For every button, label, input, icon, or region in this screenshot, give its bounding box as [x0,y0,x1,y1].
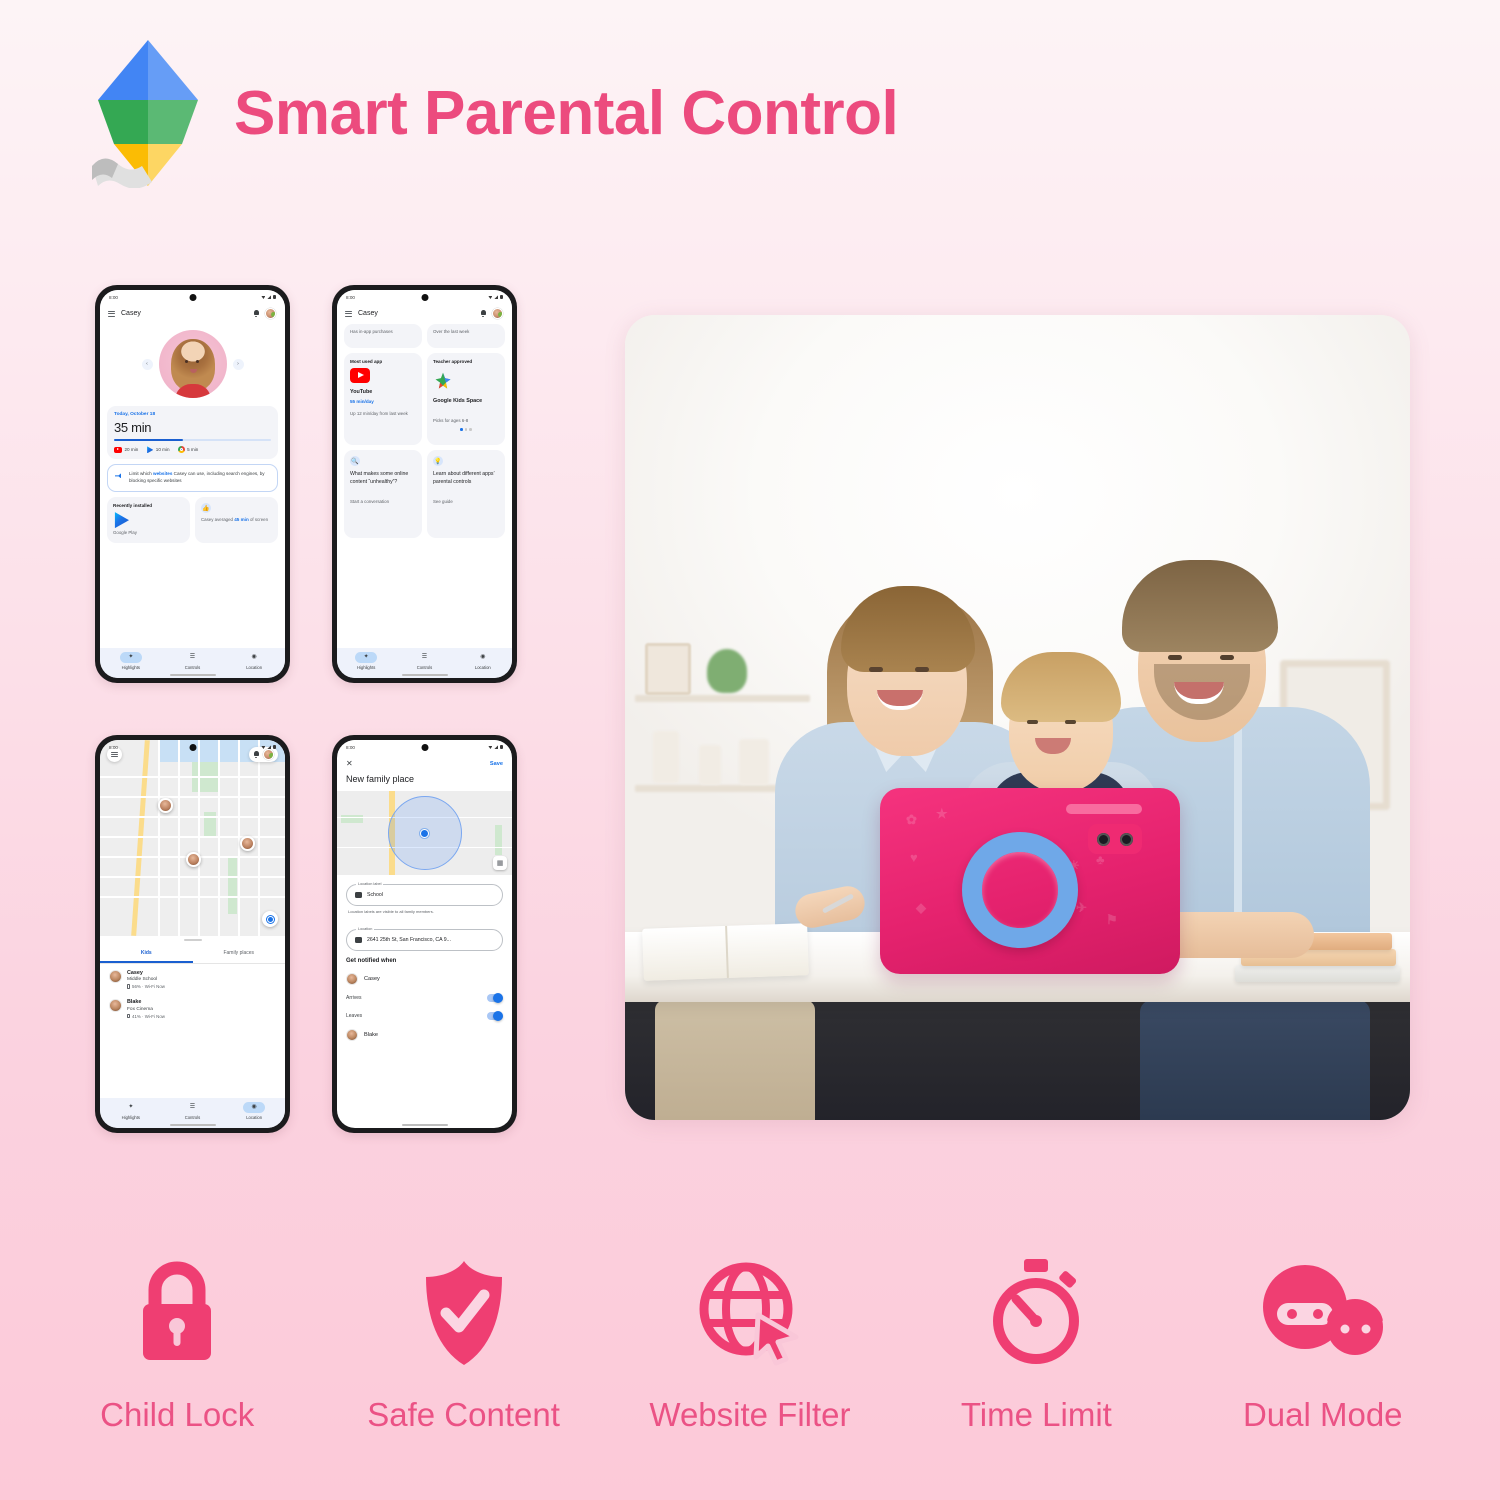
card-caption: Has in-app purchases [350,329,416,336]
card-title: Learn about different apps’ parental con… [433,470,499,487]
nav-item-controls[interactable]: ☰ Controls [170,1102,214,1120]
website-limit-text: Limit which websites Casey can use, incl… [129,471,270,485]
two-faces-icon [1261,1252,1385,1374]
shield-check-icon [416,1252,512,1374]
card-footer: Up 12 min/day from last week [350,411,416,418]
nav-item-location[interactable]: ◉ Location [232,652,276,670]
tablet-speaker [1066,804,1142,814]
app-name: YouTube [350,389,416,395]
nav-item-highlights[interactable]: ✦ Highlights [344,652,388,670]
nav-label: Controls [185,665,201,670]
tab-family-places[interactable]: Family places [193,946,286,963]
location-pin-icon: ◉ [252,1104,257,1110]
usage-progress-bar [114,439,271,441]
signal-icon [267,745,271,749]
average-screen-time-card[interactable]: 👍 Casey averaged 45 min of screen [195,497,278,543]
close-icon[interactable]: ✕ [346,760,353,768]
controls-icon: ☰ [190,654,195,660]
list-item[interactable]: Blake Fox Cinema 41% · Wi-Fi Now [100,993,285,1023]
signal-icon [494,745,498,749]
status-time: 8:00 [346,745,355,750]
field-label: Location label [356,882,383,886]
teacher-approved-card[interactable]: Teacher approved Google Kids Space Picks… [427,353,505,445]
nav-label: Controls [417,665,433,670]
controls-icon: ☰ [422,654,427,660]
kid-name: Casey [127,970,165,976]
recenter-location-button[interactable] [262,911,278,927]
map-pin-child[interactable] [186,852,201,867]
person-name: Blake [364,1032,378,1038]
nav-item-controls[interactable]: ☰ Controls [402,652,446,670]
arrives-toggle[interactable] [487,994,503,1002]
feature-dual-mode: Dual Mode [1188,1252,1458,1434]
kid-place: Fox Cinema [127,1007,165,1012]
feature-label: Website Filter [649,1396,850,1434]
status-time: 8:00 [109,295,118,300]
feature-strip: Child Lock Safe Content Website Filter [0,1252,1500,1482]
usage-date-label: Today, October 18 [114,412,271,417]
sheet-drag-handle[interactable] [184,939,202,941]
search-bubble-icon: 🔍 [350,456,360,466]
app-bar: Casey [100,304,285,324]
location-sheet: Kids Family places Casey Middle School 5… [100,939,285,1023]
card-caption: Over the last week [433,329,499,336]
page-title: New family place [337,770,512,791]
child-name-title: Casey [121,310,247,317]
battery-icon [500,745,503,750]
feature-label: Dual Mode [1243,1396,1403,1434]
section-title: Get notified when [337,954,512,969]
card-title: Teacher approved [433,359,499,364]
carousel-next-icon[interactable]: › [233,359,244,370]
toggle-label: Arrives [346,995,362,1001]
map-layers-button[interactable]: ▦ [493,856,507,870]
globe-cursor-icon [696,1252,804,1374]
toggle-row-leaves[interactable]: Leaves [337,1007,512,1025]
battery-icon [273,295,276,300]
menu-icon[interactable] [345,311,352,317]
save-button[interactable]: Save [490,761,503,767]
lightbulb-icon: 💡 [433,456,443,466]
account-avatar[interactable] [492,308,503,319]
location-pin-icon: ◉ [252,654,257,660]
nav-item-highlights[interactable]: ✦ Highlights [109,652,153,670]
recently-installed-app: Google Play [113,530,184,537]
avatar [109,999,122,1012]
recently-installed-title: Recently installed [113,503,184,508]
carousel-dots [433,428,499,431]
location-address-field[interactable]: Location 2641 25th St, San Francisco, CA… [346,929,503,951]
card-title: Most used app [350,359,416,364]
wifi-icon [261,745,265,749]
play-store-icon [113,512,129,528]
home-indicator [170,1124,216,1126]
person-name: Casey [364,976,380,982]
page-header: Smart Parental Control [92,38,898,188]
nav-item-location[interactable]: ◉ Location [232,1102,276,1120]
sheet-tabs: Kids Family places [100,946,285,964]
controls-icon: ☰ [190,1104,195,1110]
chrome-icon [178,446,185,453]
status-bar: 8:00 [337,290,512,304]
signal-icon [494,295,498,299]
geofence-radius [388,796,462,870]
open-book [642,923,809,981]
phone-mockup-new-family-place: 8:00 ✕ Save New family place ▦ Location … [332,735,517,1133]
play-store-icon [146,446,153,453]
wifi-icon [488,295,492,299]
location-label-field[interactable]: Location label School [346,884,503,906]
feature-website-filter: Website Filter [615,1252,885,1434]
toggle-label: Leaves [346,1013,362,1019]
home-indicator [402,674,448,676]
notification-bell-icon[interactable] [253,310,259,317]
card-footer: See guide [433,499,499,506]
card-footer: Start a conversation [350,499,416,506]
youtube-icon [350,368,370,383]
mother-legs [655,1000,815,1120]
account-avatar[interactable] [265,308,276,319]
megaphone-icon [115,471,124,480]
map-pin-child[interactable] [240,836,255,851]
place-marker-icon [420,829,429,838]
most-used-app-card[interactable]: Most used app YouTube 55 min/day Up 12 m… [344,353,422,445]
camera-punch-hole [189,294,196,301]
kid-meta: 41% · Wi-Fi Now [132,1014,165,1019]
home-indicator [402,1124,448,1126]
location-map[interactable] [100,740,285,936]
highlights-icon: ✦ [128,1104,133,1110]
geofence-map[interactable]: ▦ [337,791,512,875]
app-usage-time: 10 min [156,447,170,452]
tab-kids[interactable]: Kids [100,946,193,963]
list-item[interactable]: Casey Middle School 56% · Wi-Fi Now [100,964,285,994]
app-usage-play: 10 min [146,446,169,453]
battery-icon [127,1014,130,1019]
kid-meta: 56% · Wi-Fi Now [132,984,165,989]
nav-item-highlights[interactable]: ✦ Highlights [109,1102,153,1120]
camera-punch-hole [421,294,428,301]
field-value: School [367,892,383,898]
kid-place: Middle School [127,977,165,982]
highlights-icon: ✦ [128,654,133,660]
child-carousel: ‹ › [100,324,285,406]
app-usage-youtube: 20 min [114,447,138,453]
menu-icon[interactable] [108,311,115,317]
notify-person-casey: Casey [337,969,512,989]
phone-mockup-highlights: 8:00 Casey ‹ › Today, October 18 35 m [95,285,290,683]
recently-installed-card[interactable]: Recently installed Google Play [107,497,190,543]
thumbs-up-icon: 👍 [201,503,211,513]
feature-child-lock: Child Lock [42,1252,312,1434]
place-icon [355,937,362,943]
stopwatch-icon [986,1252,1086,1374]
camera-punch-hole [421,744,428,751]
notify-person-blake: Blake [337,1025,512,1045]
app-bar: Casey [337,304,512,324]
child-photo[interactable] [159,330,227,398]
app-usage-time: 20 min [125,447,139,452]
map-pin-child[interactable] [158,798,173,813]
avatar [346,1029,358,1041]
nav-item-location[interactable]: ◉ Location [461,652,505,670]
child-name-title: Casey [358,310,474,317]
feature-label: Time Limit [961,1396,1112,1434]
app-name: Google Kids Space [433,398,499,406]
notification-bell-icon[interactable] [480,310,486,317]
usage-total: 35 min [114,420,271,435]
phone-mockup-location: 8:00 [95,735,290,1133]
nav-label: Location [246,665,262,670]
camera-punch-hole [189,744,196,751]
highlights-icon: ✦ [364,654,369,660]
app-usage-time: 5 min [187,447,198,452]
feature-label: Child Lock [100,1396,254,1434]
card-title: What makes some online content “unhealth… [350,470,416,487]
status-bar: 8:00 [337,740,512,754]
field-helper-text: Location labels are visible to all famil… [337,909,512,920]
battery-icon [273,745,276,750]
phone-mockup-insights: 8:00 Casey Has in-app purchases Over the… [332,285,517,683]
leaves-toggle[interactable] [487,1012,503,1020]
field-value: 2641 25th St, San Francisco, CA 9... [367,937,451,943]
nav-label: Highlights [357,665,375,670]
card-footer: Picks for ages 6-8 [433,418,499,425]
carousel-prev-icon[interactable]: ‹ [142,359,153,370]
page-title: Smart Parental Control [234,78,898,149]
nav-label: Highlights [122,1115,140,1120]
website-limit-card[interactable]: Limit which websites Casey can use, incl… [107,464,278,492]
status-bar: 8:00 [100,290,285,304]
unhealthy-content-card[interactable]: 🔍 What makes some online content “unheal… [344,450,422,538]
parental-controls-guide-card[interactable]: 💡 Learn about different apps’ parental c… [427,450,505,538]
kids-space-icon [433,371,453,391]
tablet-ring-stand [962,832,1078,948]
tag-icon [355,892,362,898]
nav-label: Highlights [122,665,140,670]
kid-name: Blake [127,999,165,1005]
screen-time-card[interactable]: Today, October 18 35 min 20 min 10 min 5… [107,406,278,459]
toggle-row-arrives[interactable]: Arrives [337,989,512,1007]
card-last-week[interactable]: Over the last week [427,324,505,348]
status-bar: 8:00 [100,740,285,754]
location-pin-icon: ◉ [480,654,485,660]
home-indicator [170,674,216,676]
signal-icon [267,295,271,299]
family-photo-panel: ✿ ★ ♥ ☀ ♣ ✈ ◆ ⚑ [625,315,1410,1120]
app-usage-chrome: 5 min [178,446,199,453]
nav-item-controls[interactable]: ☰ Controls [170,652,214,670]
status-time: 8:00 [109,745,118,750]
youtube-icon [114,447,122,453]
battery-icon [500,295,503,300]
nav-label: Location [246,1115,262,1120]
father-legs [1140,1000,1370,1120]
kids-tablet-case: ✿ ★ ♥ ☀ ♣ ✈ ◆ ⚑ [880,788,1180,974]
avatar [109,970,122,983]
nav-label: Controls [185,1115,201,1120]
tablet-camera [1088,824,1142,854]
wifi-icon [488,745,492,749]
wifi-icon [261,295,265,299]
avatar [346,973,358,985]
field-label: Location [356,927,374,931]
app-metric: 55 min/day [350,399,416,404]
feature-time-limit: Time Limit [901,1252,1171,1434]
battery-icon [127,984,130,989]
padlock-icon [129,1252,225,1374]
status-time: 8:00 [346,295,355,300]
feature-safe-content: Safe Content [329,1252,599,1434]
google-family-link-logo [92,38,204,188]
average-screen-text: Casey averaged 45 min of screen [201,517,272,524]
feature-label: Safe Content [367,1396,560,1434]
card-in-app-purchases[interactable]: Has in-app purchases [344,324,422,348]
nav-label: Location [475,665,491,670]
